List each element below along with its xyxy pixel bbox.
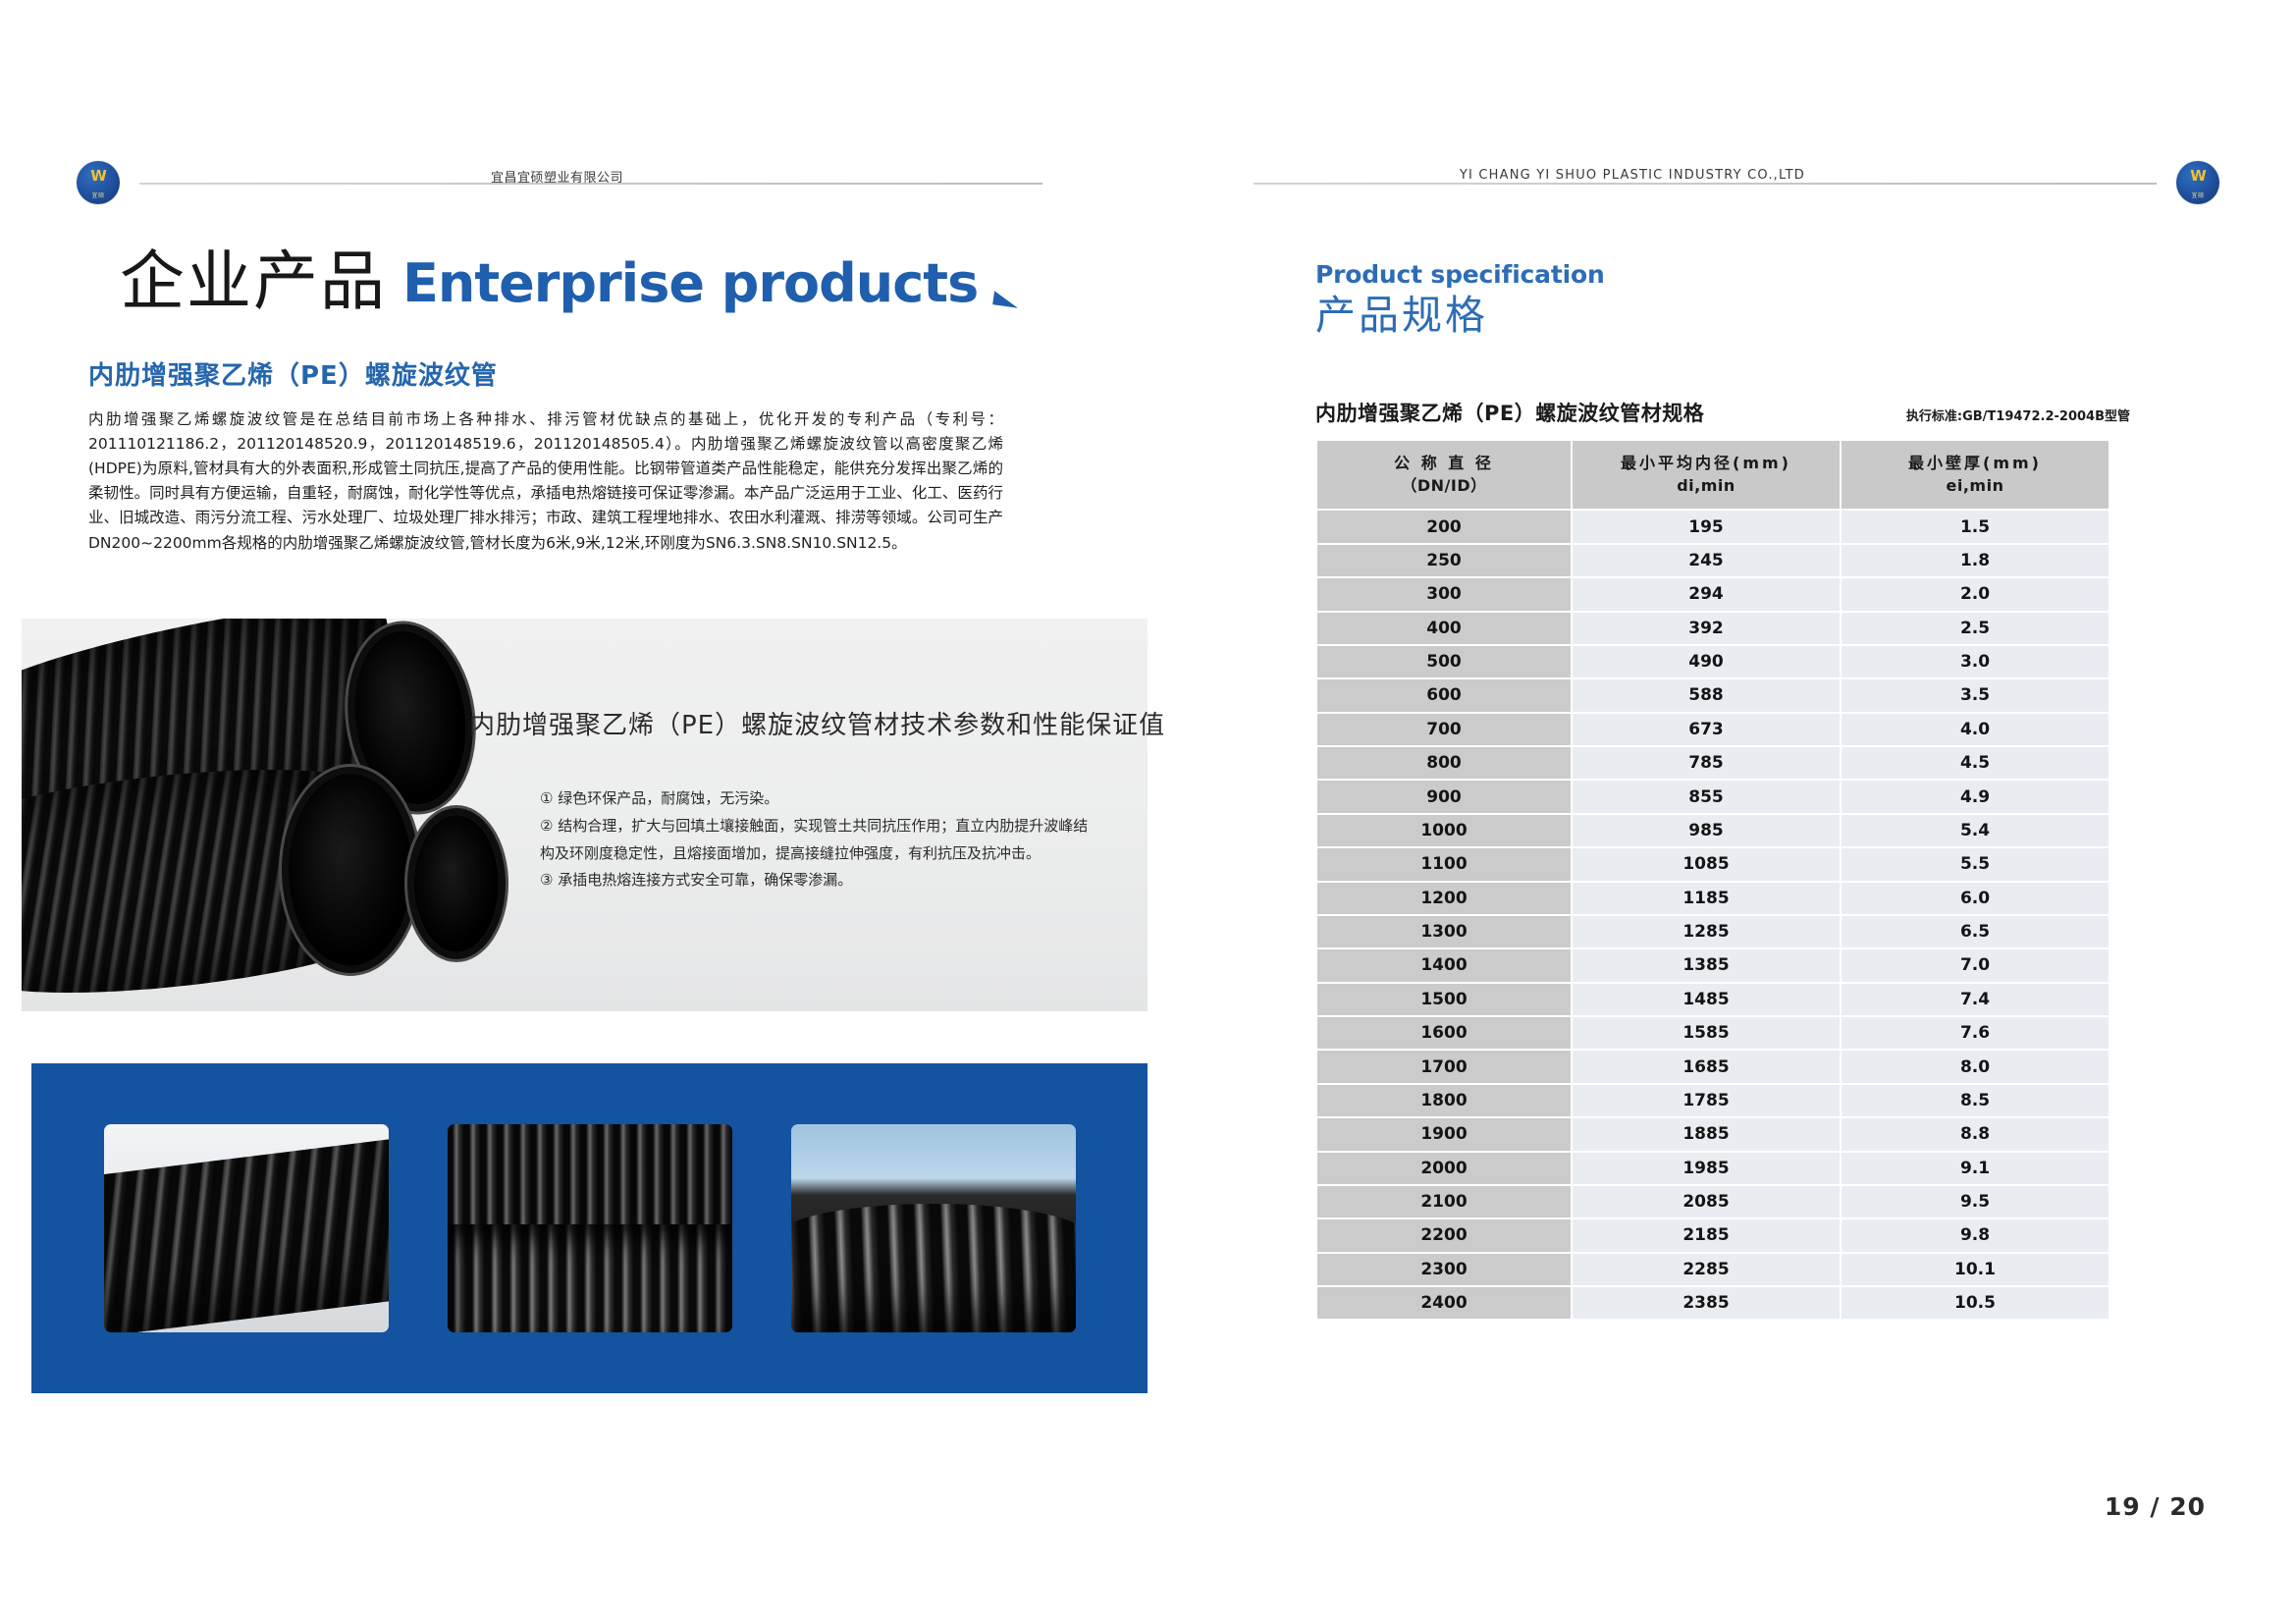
table-cell: 5.4 (1842, 815, 2109, 846)
table-cell: 1185 (1573, 883, 1840, 914)
table-cell: 6.0 (1842, 883, 2109, 914)
table-row: 120011856.0 (1317, 883, 2109, 914)
table-cell: 300 (1317, 578, 1571, 610)
table-cell: 5.5 (1842, 848, 2109, 880)
corrugated-pipe-photo (22, 619, 532, 1011)
table-cell: 1985 (1573, 1153, 1840, 1184)
left-column: 企业产品 Enterprise products 内肋增强聚乙烯（PE）螺旋波纹… (31, 211, 1141, 556)
table-cell: 1000 (1317, 815, 1571, 846)
table-cell: 500 (1317, 646, 1571, 677)
table-cell: 1285 (1573, 916, 1840, 947)
table-row: 2300228510.1 (1317, 1254, 2109, 1285)
product-subtitle: 内肋增强聚乙烯（PE）螺旋波纹管 (31, 355, 1141, 392)
product-description: 内肋增强聚乙烯螺旋波纹管是在总结目前市场上各种排水、排污管材优缺点的基础上，优化… (31, 407, 1141, 556)
page-header: W 宜硕 宜昌宜硕塑业有限公司 YI CHANG YI SHUO PLASTIC… (0, 77, 2296, 137)
gallery-image-stacked-pipes (104, 1124, 389, 1332)
pipe-opening (414, 815, 499, 952)
table-cell: 2385 (1573, 1287, 1840, 1319)
table-cell: 6.5 (1842, 916, 2109, 947)
table-cell: 1485 (1573, 984, 1840, 1015)
company-logo-left: W 宜硕 (77, 161, 120, 204)
gallery-thumbnails (31, 1124, 1148, 1332)
table-row: 3002942.0 (1317, 578, 2109, 610)
table-cell: 1400 (1317, 949, 1571, 981)
table-cell: 4.9 (1842, 781, 2109, 812)
table-cell: 2400 (1317, 1287, 1571, 1319)
spec-heading-en: Product specification (1315, 260, 2130, 289)
table-cell: 4.0 (1842, 714, 2109, 745)
page-title: 企业产品 Enterprise products (31, 211, 1141, 314)
table-cell: 9.1 (1842, 1153, 2109, 1184)
list-item: ③ 承插电热熔连接方式安全可靠，确保零渗漏。 (540, 867, 1090, 894)
tech-params-title: 内肋增强聚乙烯（PE）螺旋波纹管材技术参数和性能保证值 (469, 705, 1165, 741)
table-cell: 294 (1573, 578, 1840, 610)
column-header-nominal-diameter: 公 称 直 径 （DN/ID） (1317, 441, 1571, 509)
table-cell: 1900 (1317, 1118, 1571, 1150)
table-row: 4003922.5 (1317, 613, 2109, 644)
table-cell: 1500 (1317, 984, 1571, 1015)
table-cell: 200 (1317, 511, 1571, 542)
spec-table-body: 2001951.52502451.83002942.04003922.55004… (1317, 511, 2109, 1319)
spec-table-caption: 内肋增强聚乙烯（PE）螺旋波纹管材规格 执行标准:GB/T19472.2-200… (1315, 398, 2130, 427)
logo-emblem-icon: W (85, 169, 111, 183)
list-item: ① 绿色环保产品，耐腐蚀，无污染。 (540, 785, 1090, 813)
table-cell: 1085 (1573, 848, 1840, 880)
table-row: 2502451.8 (1317, 545, 2109, 576)
table-cell: 392 (1573, 613, 1840, 644)
table-cell: 490 (1573, 646, 1840, 677)
table-cell: 1800 (1317, 1085, 1571, 1116)
table-cell: 2.0 (1842, 578, 2109, 610)
table-row: 160015857.6 (1317, 1017, 2109, 1049)
table-cell: 900 (1317, 781, 1571, 812)
spec-table: 公 称 直 径 （DN/ID） 最小平均内径(mm) di,min 最小壁厚(m… (1315, 439, 2110, 1321)
table-cell: 2185 (1573, 1219, 1840, 1251)
right-column: Product specification 产品规格 内肋增强聚乙烯（PE）螺旋… (1315, 260, 2130, 339)
page-number: 19 / 20 (2105, 1492, 2206, 1521)
table-cell: 2000 (1317, 1153, 1571, 1184)
table-cell: 400 (1317, 613, 1571, 644)
gallery-image-large-pipes (791, 1124, 1076, 1332)
table-row: 2400238510.5 (1317, 1287, 2109, 1319)
table-row: 7006734.0 (1317, 714, 2109, 745)
table-cell: 8.8 (1842, 1118, 2109, 1150)
table-cell: 8.5 (1842, 1085, 2109, 1116)
list-item: ② 结构合理，扩大与回填土壤接触面，实现管土共同抗压作用；直立内肋提升波峰结构及… (540, 813, 1090, 868)
table-cell: 7.6 (1842, 1017, 2109, 1049)
table-cell: 1.8 (1842, 545, 2109, 576)
table-cell: 7.0 (1842, 949, 2109, 981)
table-cell: 2300 (1317, 1254, 1571, 1285)
table-header-row: 公 称 直 径 （DN/ID） 最小平均内径(mm) di,min 最小壁厚(m… (1317, 441, 2109, 509)
table-cell: 2200 (1317, 1219, 1571, 1251)
table-cell: 4.5 (1842, 747, 2109, 779)
pipe-opening (289, 774, 412, 966)
table-cell: 195 (1573, 511, 1840, 542)
table-cell: 250 (1317, 545, 1571, 576)
table-cell: 700 (1317, 714, 1571, 745)
brochure-page: W 宜硕 宜昌宜硕塑业有限公司 YI CHANG YI SHUO PLASTIC… (0, 0, 2296, 1623)
table-row: 170016858.0 (1317, 1051, 2109, 1082)
table-cell: 245 (1573, 545, 1840, 576)
table-cell: 8.0 (1842, 1051, 2109, 1082)
spec-heading-cn: 产品规格 (1315, 293, 2130, 339)
company-logo-right: W 宜硕 (2176, 161, 2219, 204)
table-cell: 1600 (1317, 1017, 1571, 1049)
table-cell: 2100 (1317, 1186, 1571, 1217)
tech-params-list: ① 绿色环保产品，耐腐蚀，无污染。 ② 结构合理，扩大与回填土壤接触面，实现管土… (540, 785, 1090, 894)
table-cell: 3.0 (1842, 646, 2109, 677)
table-cell: 1300 (1317, 916, 1571, 947)
table-cell: 1100 (1317, 848, 1571, 880)
title-arrow-icon (992, 291, 1020, 307)
table-row: 150014857.4 (1317, 984, 2109, 1015)
table-row: 180017858.5 (1317, 1085, 2109, 1116)
header-company-cn: 宜昌宜硕塑业有限公司 (491, 167, 623, 186)
table-cell: 1700 (1317, 1051, 1571, 1082)
table-cell: 855 (1573, 781, 1840, 812)
spec-standard-code: 执行标准:GB/T19472.2-2004B型管 (1906, 406, 2130, 424)
table-cell: 10.1 (1842, 1254, 2109, 1285)
gallery-image-coiled-pipe (448, 1124, 732, 1332)
logo-emblem-icon: W (2185, 169, 2211, 183)
table-cell: 1685 (1573, 1051, 1840, 1082)
table-cell: 800 (1317, 747, 1571, 779)
page-title-en: Enterprise products (402, 257, 978, 310)
table-row: 190018858.8 (1317, 1118, 2109, 1150)
table-row: 10009855.4 (1317, 815, 2109, 846)
table-cell: 785 (1573, 747, 1840, 779)
page-title-cn: 企业产品 (120, 249, 387, 314)
table-cell: 985 (1573, 815, 1840, 846)
table-row: 130012856.5 (1317, 916, 2109, 947)
table-cell: 1.5 (1842, 511, 2109, 542)
table-cell: 1385 (1573, 949, 1840, 981)
table-cell: 1585 (1573, 1017, 1840, 1049)
table-cell: 588 (1573, 679, 1840, 711)
table-row: 110010855.5 (1317, 848, 2109, 880)
table-cell: 1200 (1317, 883, 1571, 914)
table-cell: 9.5 (1842, 1186, 2109, 1217)
header-rule-right (1254, 183, 2157, 185)
table-row: 220021859.8 (1317, 1219, 2109, 1251)
table-cell: 673 (1573, 714, 1840, 745)
table-cell: 9.8 (1842, 1219, 2109, 1251)
table-row: 9008554.9 (1317, 781, 2109, 812)
table-row: 200019859.1 (1317, 1153, 2109, 1184)
logo-subtext: 宜硕 (2191, 190, 2204, 199)
table-cell: 600 (1317, 679, 1571, 711)
header-company-en: YI CHANG YI SHUO PLASTIC INDUSTRY CO.,LT… (1460, 168, 1805, 183)
table-cell: 1885 (1573, 1118, 1840, 1150)
table-row: 5004903.0 (1317, 646, 2109, 677)
logo-subtext: 宜硕 (91, 190, 104, 199)
table-cell: 2285 (1573, 1254, 1840, 1285)
table-cell: 10.5 (1842, 1287, 2109, 1319)
table-cell: 2085 (1573, 1186, 1840, 1217)
table-row: 8007854.5 (1317, 747, 2109, 779)
table-row: 2001951.5 (1317, 511, 2109, 542)
table-cell: 2.5 (1842, 613, 2109, 644)
table-row: 140013857.0 (1317, 949, 2109, 981)
column-header-min-inner-diameter: 最小平均内径(mm) di,min (1573, 441, 1840, 509)
table-cell: 7.4 (1842, 984, 2109, 1015)
table-cell: 3.5 (1842, 679, 2109, 711)
table-row: 210020859.5 (1317, 1186, 2109, 1217)
column-header-min-wall-thickness: 最小壁厚(mm) ei,min (1842, 441, 2109, 509)
product-gallery-panel (31, 1063, 1148, 1393)
table-cell: 1785 (1573, 1085, 1840, 1116)
table-row: 6005883.5 (1317, 679, 2109, 711)
spec-table-title: 内肋增强聚乙烯（PE）螺旋波纹管材规格 (1315, 398, 1704, 427)
